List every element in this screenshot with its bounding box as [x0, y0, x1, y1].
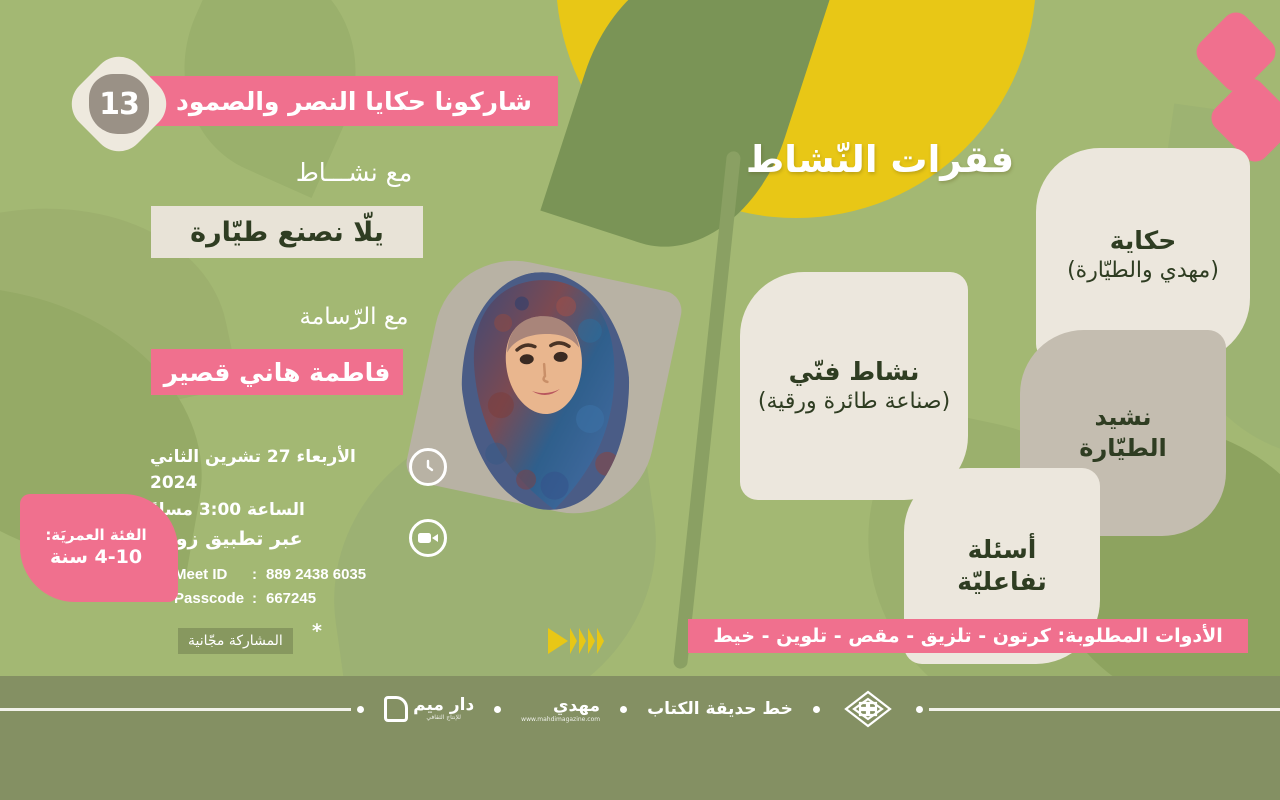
footer-logo-diamond-emblem [826, 689, 910, 729]
artist-name: فاطمة هاني قصير [164, 358, 391, 387]
footer-logo-mahdi-sub: www.mahdimagazine.com [521, 716, 600, 723]
episode-number-badge: 13 [61, 46, 177, 162]
episode-number-blob: 13 [89, 74, 149, 134]
chevron-5 [548, 628, 568, 654]
activity-name-box: يلّا نصنع طيّارة [151, 206, 423, 258]
chevron-1 [597, 628, 604, 654]
activity-card-questions-text: أسئلة تفاعليّة [945, 534, 1058, 598]
event-datetime: الأربعاء 27 تشرين الثاني 2024 الساعة 3:0… [150, 444, 398, 523]
passcode-row: Passcode : 667245 [174, 587, 406, 611]
footer-dot-3 [488, 706, 507, 713]
footer-logo-khat-label: خط حديقة الكتاب [647, 699, 793, 719]
activity-card-story-text: حكاية (مهدي والطيّارة) [1055, 225, 1231, 285]
chevron-2 [588, 628, 595, 654]
passcode-colon: : [252, 587, 266, 611]
event-time: الساعة 3:00 مساءً [150, 497, 398, 523]
footer-dot-0 [910, 706, 929, 713]
video-camera-glyph [417, 531, 439, 545]
footer-logo-dar-meem-label: دار ميم [413, 695, 474, 715]
chevron-arrows-icon [548, 628, 604, 654]
meet-id-row: Meet ID : 889 2438 6035 [174, 563, 406, 587]
age-group-badge: الفئة العمريَة: 4-10 سنة [20, 494, 178, 602]
meet-id-label: Meet ID [174, 563, 252, 587]
activity-card-art: نشاط فنّي (صناعة طائرة ورقية) [740, 272, 968, 500]
footer-dot-1 [807, 706, 826, 713]
activity-card-questions-line2: تفاعليّة [957, 566, 1046, 598]
footer-logo-mahdi-wrap: مهدي www.mahdimagazine.com [521, 696, 600, 723]
pink-diamond-decor-1 [1191, 7, 1280, 98]
age-group-label: الفئة العمريَة: [45, 525, 146, 545]
event-date: الأربعاء 27 تشرين الثاني 2024 [150, 444, 398, 497]
age-group-value: 4-10 سنة [50, 545, 142, 571]
footer-logo-khat-hadiqat-alkitab: خط حديقة الكتاب [633, 699, 807, 719]
footer-logo-mahdi: مهدي www.mahdimagazine.com [507, 696, 614, 723]
passcode-value: 667245 [266, 587, 316, 611]
activity-card-anthem-line2: الطيّارة [1079, 433, 1166, 464]
asterisk-marker: * [312, 620, 322, 642]
activity-card-story-line2: (مهدي والطيّارة) [1067, 257, 1219, 285]
footer: خط حديقة الكتاب مهدي www.mahdimagazine.c… [0, 676, 1280, 800]
event-poster: 13 شاركونا حكايا النصر والصمود مع نشـــا… [0, 0, 1280, 800]
materials-bar: الأدوات المطلوبة: كرتون - تلزيق - مقص - … [688, 619, 1248, 653]
footer-logo-strip: خط حديقة الكتاب مهدي www.mahdimagazine.c… [0, 676, 1280, 742]
event-platform: عبر تطبيق زووم [150, 528, 398, 550]
meet-id-value: 889 2438 6035 [266, 563, 366, 587]
footer-logo-dar-meem-wrap: دار ميم للإنتاج الثقافي [384, 696, 474, 722]
clock-icon [409, 448, 447, 486]
activity-card-questions-line1: أسئلة [957, 534, 1046, 566]
materials-text: الأدوات المطلوبة: كرتون - تلزيق - مقص - … [713, 625, 1223, 647]
artist-name-box: فاطمة هاني قصير [151, 349, 403, 395]
meeting-credentials: Meet ID : 889 2438 6035 Passcode : 66724… [174, 563, 406, 611]
activity-name: يلّا نصنع طيّارة [190, 217, 384, 248]
sun-circle [556, 0, 1036, 218]
leaf-stem [673, 151, 741, 670]
chevron-4 [570, 628, 577, 654]
footer-logo-mahdi-label: مهدي [553, 696, 600, 716]
video-camera-icon [409, 519, 447, 557]
activity-card-story-line1: حكاية [1067, 225, 1219, 257]
poster-title-bar: شاركونا حكايا النصر والصمود [150, 76, 558, 126]
footer-logo-dar-meem-sub: للإنتاج الثقافي [413, 715, 474, 722]
free-participation-note: المشاركة مجّانية [178, 628, 293, 654]
footer-logo-dar-meem: دار ميم للإنتاج الثقافي [370, 696, 488, 722]
clock-glyph [418, 457, 438, 477]
meet-id-colon: : [252, 563, 266, 587]
activities-heading: فقرات النّشاط [730, 138, 1030, 181]
poster-title: شاركونا حكايا النصر والصمود [176, 87, 532, 116]
passcode-label: Passcode [174, 587, 252, 611]
activity-card-art-line2: (صناعة طائرة ورقية) [758, 388, 950, 416]
activity-card-anthem-line1: نشيد [1079, 402, 1166, 433]
episode-number-label: 13 [99, 87, 139, 122]
dar-meem-mark-icon [384, 696, 408, 722]
footer-logo-dar-meem-textwrap: دار ميم للإنتاج الثقافي [413, 696, 474, 721]
activity-card-art-text: نشاط فنّي (صناعة طائرة ورقية) [746, 356, 962, 416]
chevron-3 [579, 628, 586, 654]
footer-dot-4 [351, 706, 370, 713]
footer-dot-2 [614, 706, 633, 713]
activity-card-art-line1: نشاط فنّي [758, 356, 950, 388]
diamond-emblem-icon [840, 689, 896, 729]
with-activity-label: مع نشـــاط [150, 158, 558, 187]
activity-card-anthem-text: نشيد الطيّارة [1067, 402, 1178, 463]
